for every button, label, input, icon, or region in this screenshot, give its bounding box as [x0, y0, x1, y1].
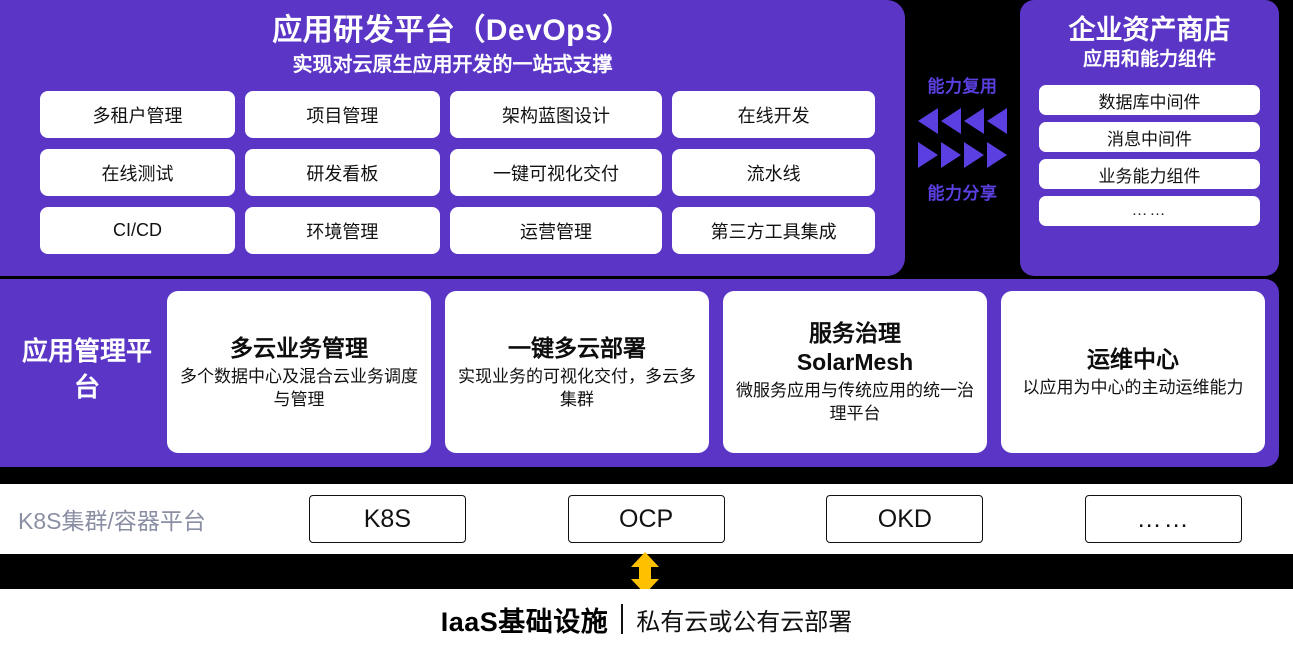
devops-chip[interactable]: 架构蓝图设计: [450, 91, 662, 138]
k8s-box[interactable]: K8S: [309, 495, 466, 543]
k8s-box-list: K8S OCP OKD ……: [258, 495, 1293, 543]
devops-chip[interactable]: 在线测试: [40, 149, 235, 196]
devops-chip[interactable]: 一键可视化交付: [450, 149, 662, 196]
k8s-row-label: K8S集群/容器平台: [18, 502, 258, 536]
devops-platform-panel: 应用研发平台（DevOps） 实现对云原生应用开发的一站式支撑 多租户管理 项目…: [0, 0, 905, 276]
k8s-box[interactable]: OCP: [568, 495, 725, 543]
asset-store-list: 数据库中间件 消息中间件 业务能力组件 ……: [1039, 85, 1260, 226]
asset-store-title: 企业资产商店: [1020, 13, 1279, 47]
devops-chip[interactable]: 流水线: [672, 149, 875, 196]
right-arrows-group: [918, 142, 1007, 168]
app-card-desc: 实现业务的可视化交付，多云多集群: [457, 365, 697, 411]
devops-chip[interactable]: 第三方工具集成: [672, 207, 875, 254]
devops-chip[interactable]: CI/CD: [40, 207, 235, 254]
app-card-title: 多云业务管理: [230, 334, 368, 363]
devops-chip[interactable]: 项目管理: [245, 91, 440, 138]
architecture-diagram: 应用研发平台（DevOps） 实现对云原生应用开发的一站式支撑 多租户管理 项目…: [0, 0, 1293, 649]
app-card-desc: 微服务应用与传统应用的统一治理平台: [735, 379, 975, 425]
asset-store-panel: 企业资产商店 应用和能力组件 数据库中间件 消息中间件 业务能力组件 ……: [1020, 0, 1279, 276]
asset-item-more[interactable]: ……: [1039, 196, 1260, 226]
capability-exchange-column: 能力复用 能力分享: [905, 0, 1020, 276]
asset-item[interactable]: 消息中间件: [1039, 122, 1260, 152]
iaas-divider: [621, 604, 623, 634]
arrow-left-icon: [987, 108, 1007, 134]
devops-chip[interactable]: 在线开发: [672, 91, 875, 138]
app-card[interactable]: 一键多云部署 实现业务的可视化交付，多云多集群: [445, 291, 709, 453]
app-card-desc: 多个数据中心及混合云业务调度与管理: [179, 365, 419, 411]
app-card[interactable]: 运维中心 以应用为中心的主动运维能力: [1001, 291, 1265, 453]
app-management-label: 应用管理平台: [22, 333, 152, 405]
arrow-left-icon: [918, 108, 938, 134]
app-card[interactable]: 服务治理 SolarMesh 微服务应用与传统应用的统一治理平台: [723, 291, 987, 453]
devops-subtitle: 实现对云原生应用开发的一站式支撑: [0, 51, 905, 79]
app-card-title: 一键多云部署: [508, 334, 646, 363]
app-card-title: 运维中心: [1087, 345, 1179, 374]
devops-capability-grid: 多租户管理 项目管理 架构蓝图设计 在线开发 在线测试 研发看板 一键可视化交付…: [40, 91, 875, 254]
arrow-right-icon: [964, 142, 984, 168]
devops-chip[interactable]: 环境管理: [245, 207, 440, 254]
arrow-right-icon: [918, 142, 938, 168]
devops-chip[interactable]: 研发看板: [245, 149, 440, 196]
asset-item[interactable]: 数据库中间件: [1039, 85, 1260, 115]
arrow-right-icon: [987, 142, 1007, 168]
iaas-desc: 私有云或公有云部署: [636, 602, 852, 637]
asset-item[interactable]: 业务能力组件: [1039, 159, 1260, 189]
iaas-title: IaaS基础设施: [441, 600, 609, 639]
double-vertical-arrow-icon: [629, 552, 661, 594]
capability-reuse-label: 能力复用: [928, 72, 998, 97]
arrow-right-icon: [941, 142, 961, 168]
app-card[interactable]: 多云业务管理 多个数据中心及混合云业务调度与管理: [167, 291, 431, 453]
asset-store-subtitle: 应用和能力组件: [1020, 47, 1279, 73]
capability-share-label: 能力分享: [928, 179, 998, 204]
k8s-platform-row: K8S集群/容器平台 K8S OCP OKD ……: [0, 484, 1293, 554]
app-card-desc: 以应用为中心的主动运维能力: [1023, 376, 1244, 399]
devops-chip[interactable]: 多租户管理: [40, 91, 235, 138]
devops-title: 应用研发平台（DevOps）: [0, 12, 905, 50]
left-arrows-group: [918, 108, 1007, 134]
k8s-box-more[interactable]: ……: [1085, 495, 1242, 543]
iaas-infrastructure-row: IaaS基础设施 私有云或公有云部署: [0, 589, 1293, 649]
app-management-cards: 多云业务管理 多个数据中心及混合云业务调度与管理 一键多云部署 实现业务的可视化…: [167, 291, 1265, 453]
arrow-left-icon: [941, 108, 961, 134]
app-management-band: 应用管理平台 多云业务管理 多个数据中心及混合云业务调度与管理 一键多云部署 实…: [0, 279, 1279, 467]
app-card-title: 服务治理 SolarMesh: [797, 319, 913, 377]
k8s-box[interactable]: OKD: [826, 495, 983, 543]
devops-chip[interactable]: 运营管理: [450, 207, 662, 254]
arrow-left-icon: [964, 108, 984, 134]
